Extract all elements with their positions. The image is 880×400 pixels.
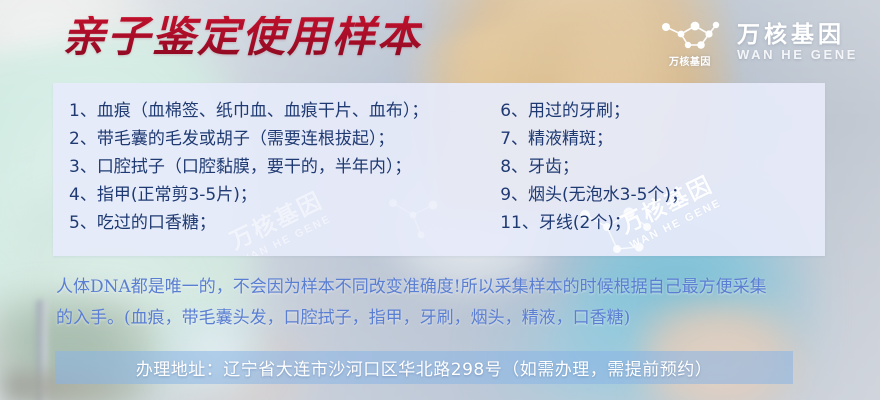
description-line-1: 人体DNA都是唯一的，不会因为样本不同改变准确度!所以采集样本的时候根据自己最方…	[56, 272, 846, 303]
list-item: 8、牙齿；	[500, 153, 825, 181]
list-item: 6、用过的牙刷；	[500, 97, 825, 125]
description-paragraph: 人体DNA都是唯一的，不会因为样本不同改变准确度!所以采集样本的时候根据自己最方…	[56, 272, 846, 334]
poster-root: 亲子鉴定使用样本	[0, 0, 880, 400]
sample-list-panel: 万核基因 WAN HE GENE 万核基因 WAN HE GENE 万核基因 W…	[53, 83, 825, 256]
logo-mark-caption: 万核基因	[657, 53, 723, 68]
brand-name-block: 万核基因 WAN HE GENE	[737, 22, 858, 63]
page-title: 亲子鉴定使用样本	[62, 16, 422, 59]
brand-name-cn: 万核基因	[737, 22, 858, 47]
list-item: 4、指甲(正常剪3-5片)；	[69, 181, 492, 209]
address-text: 办理地址：辽宁省大连市沙河口区华北路298号（如需办理，需提前预约）	[55, 351, 793, 384]
molecule-network-icon: 万核基因	[657, 18, 723, 66]
list-item: 2、带毛囊的毛发或胡子（需要连根拔起）；	[69, 125, 492, 153]
brand-name-en: WAN HE GENE	[737, 48, 858, 62]
list-item: 3、口腔拭子（口腔黏膜，要干的，半年内）；	[69, 153, 492, 181]
sample-list-right-column: 6、用过的牙刷； 7、精液精斑； 8、牙齿； 9、烟头(无泡水3-5个)； 11…	[492, 97, 825, 256]
brand-logo: 万核基因 万核基因 WAN HE GENE	[657, 18, 858, 66]
description-line-2: 的入手。(血痕，带毛囊头发，口腔拭子，指甲，牙刷，烟头，精液，口香糖)	[56, 303, 846, 334]
list-item: 9、烟头(无泡水3-5个)；	[500, 181, 825, 209]
list-item: 1、血痕（血棉签、纸巾血、血痕干片、血布）；	[69, 97, 492, 125]
list-item: 11、牙线(2个)；	[500, 209, 825, 237]
list-item: 5、吃过的口香糖；	[69, 209, 492, 237]
sample-list-left-column: 1、血痕（血棉签、纸巾血、血痕干片、血布）； 2、带毛囊的毛发或胡子（需要连根拔…	[53, 97, 492, 256]
list-item: 7、精液精斑；	[500, 125, 825, 153]
